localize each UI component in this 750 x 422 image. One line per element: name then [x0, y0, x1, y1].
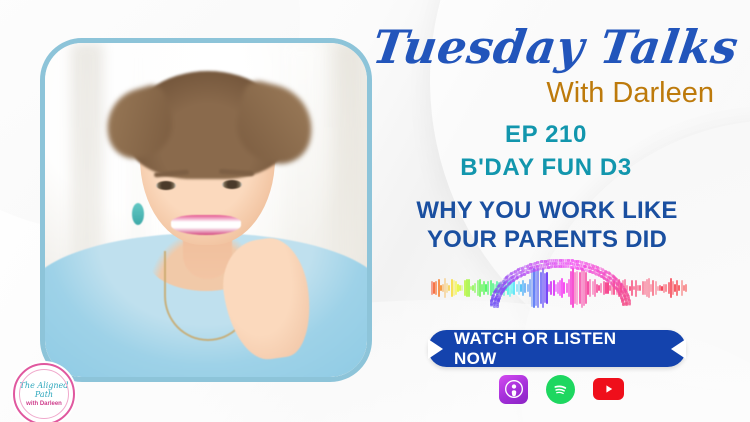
logo-line-3: with Darleen — [26, 400, 62, 408]
platform-icon-row — [499, 374, 624, 404]
episode-title: WHY YOU WORK LIKE YOUR PARENTS DID — [382, 196, 712, 254]
spotify-icon[interactable] — [546, 375, 575, 404]
episode-title-line-1: WHY YOU WORK LIKE — [382, 196, 712, 225]
audio-waveform-headphones-icon — [428, 262, 690, 328]
play-triangle-right-icon — [428, 339, 443, 359]
host-name: With Darleen — [378, 76, 714, 110]
host-photo-frame — [40, 38, 372, 382]
cta-label: WATCH OR LISTEN NOW — [454, 329, 660, 369]
show-title: Tuesday Talks — [369, 20, 609, 76]
host-hair — [126, 71, 290, 179]
host-earring — [132, 203, 144, 225]
episode-subtitle: B'DAY FUN D3 — [378, 154, 714, 182]
episode-title-line-2: YOUR PARENTS DID — [382, 225, 712, 254]
watch-or-listen-button[interactable]: WATCH OR LISTEN NOW — [428, 330, 686, 367]
logo-line-1: The Aligned — [20, 381, 69, 390]
host-eye-left — [156, 181, 176, 190]
episode-number: EP 210 — [378, 121, 714, 149]
youtube-icon[interactable] — [593, 378, 624, 400]
waveform-arc-pixel — [628, 303, 631, 306]
the-aligned-path-logo: The Aligned Path with Darleen — [13, 363, 75, 422]
waveform-bar — [685, 284, 687, 292]
host-smile — [171, 215, 242, 235]
host-eye-right — [222, 180, 242, 189]
play-triangle-left-icon — [671, 339, 686, 359]
podcast-episode-graphic: Tuesday Talks With Darleen EP 210 B'DAY … — [0, 0, 750, 422]
apple-podcasts-icon[interactable] — [499, 375, 528, 404]
host-photo — [45, 43, 367, 377]
logo-line-2: Path — [35, 390, 53, 399]
